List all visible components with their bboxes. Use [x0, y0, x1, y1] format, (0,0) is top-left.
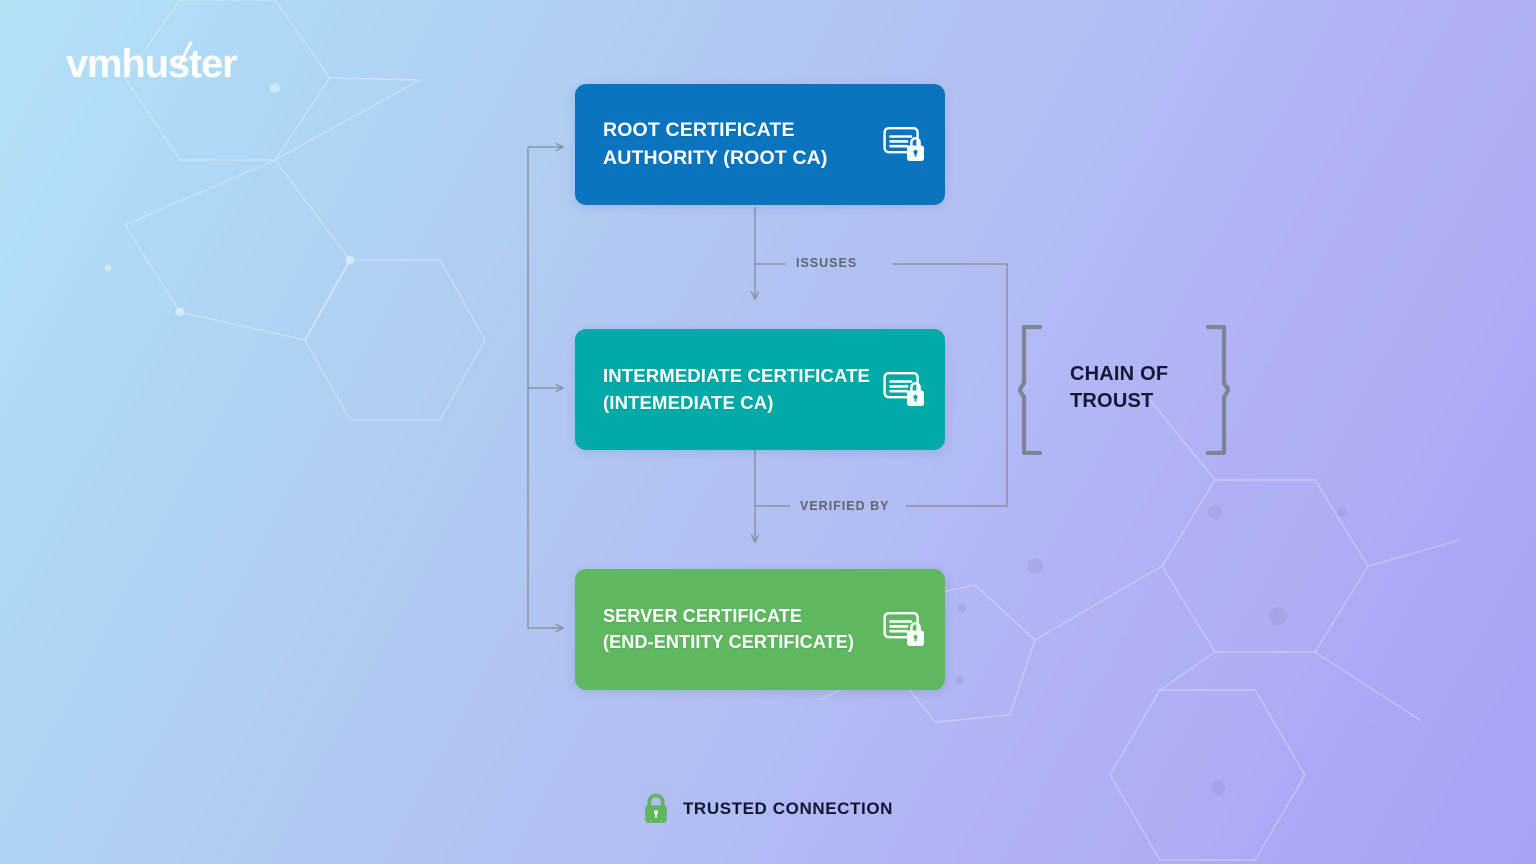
chain-of-trust-label: CHAIN OF TROUST — [1070, 361, 1190, 415]
node-server-line1: SERVER CERTIFICATE — [603, 606, 802, 626]
node-intermediate-line1: INTERMEDIATE CERTIFICATE — [603, 365, 870, 386]
padlock-icon — [643, 793, 669, 825]
node-intermediate-label: INTERMEDIATE CERTIFICATE (INTEMEDIATE CA… — [603, 363, 870, 416]
certificate-lock-icon — [883, 125, 927, 165]
trusted-connection-label: TRUSTED CONNECTION — [683, 799, 893, 819]
right-brace-icon — [1204, 325, 1230, 455]
certificate-lock-icon — [883, 370, 927, 410]
chain-of-trust-group: CHAIN OF TROUST — [1018, 325, 1230, 455]
edge-label-verified-by: VERIFIED BY — [800, 499, 890, 513]
node-intermediate-certificate-authority[interactable]: INTERMEDIATE CERTIFICATE (INTEMEDIATE CA… — [575, 329, 945, 450]
node-root-certificate-authority[interactable]: ROOT CERTIFICATE AUTHORITY (ROOT CA) — [575, 84, 945, 205]
node-root-line2: AUTHORITY (ROOT CA) — [603, 145, 828, 173]
trusted-connection-footer: TRUSTED CONNECTION — [0, 793, 1536, 825]
node-root-label: ROOT CERTIFICATE AUTHORITY (ROOT CA) — [603, 117, 828, 172]
node-server-line2: (END-ENTIITY CERTIFICATE) — [603, 630, 854, 656]
node-server-certificate[interactable]: SERVER CERTIFICATE (END-ENTIITY CERTIFIC… — [575, 569, 945, 690]
node-root-line1: ROOT CERTIFICATE — [603, 119, 795, 141]
chain-label-line1: CHAIN OF — [1070, 363, 1168, 385]
node-server-label: SERVER CERTIFICATE (END-ENTIITY CERTIFIC… — [603, 604, 854, 655]
certificate-lock-icon — [883, 610, 927, 650]
left-brace-icon — [1018, 325, 1044, 455]
chain-label-line2: TROUST — [1070, 388, 1190, 415]
brand-logo-text: vmhuster — [66, 42, 236, 86]
brand-logo: vmhuster — [66, 44, 236, 84]
node-intermediate-line2: (INTEMEDIATE CA) — [603, 390, 870, 416]
edge-label-issues: ISSUSES — [796, 256, 857, 270]
